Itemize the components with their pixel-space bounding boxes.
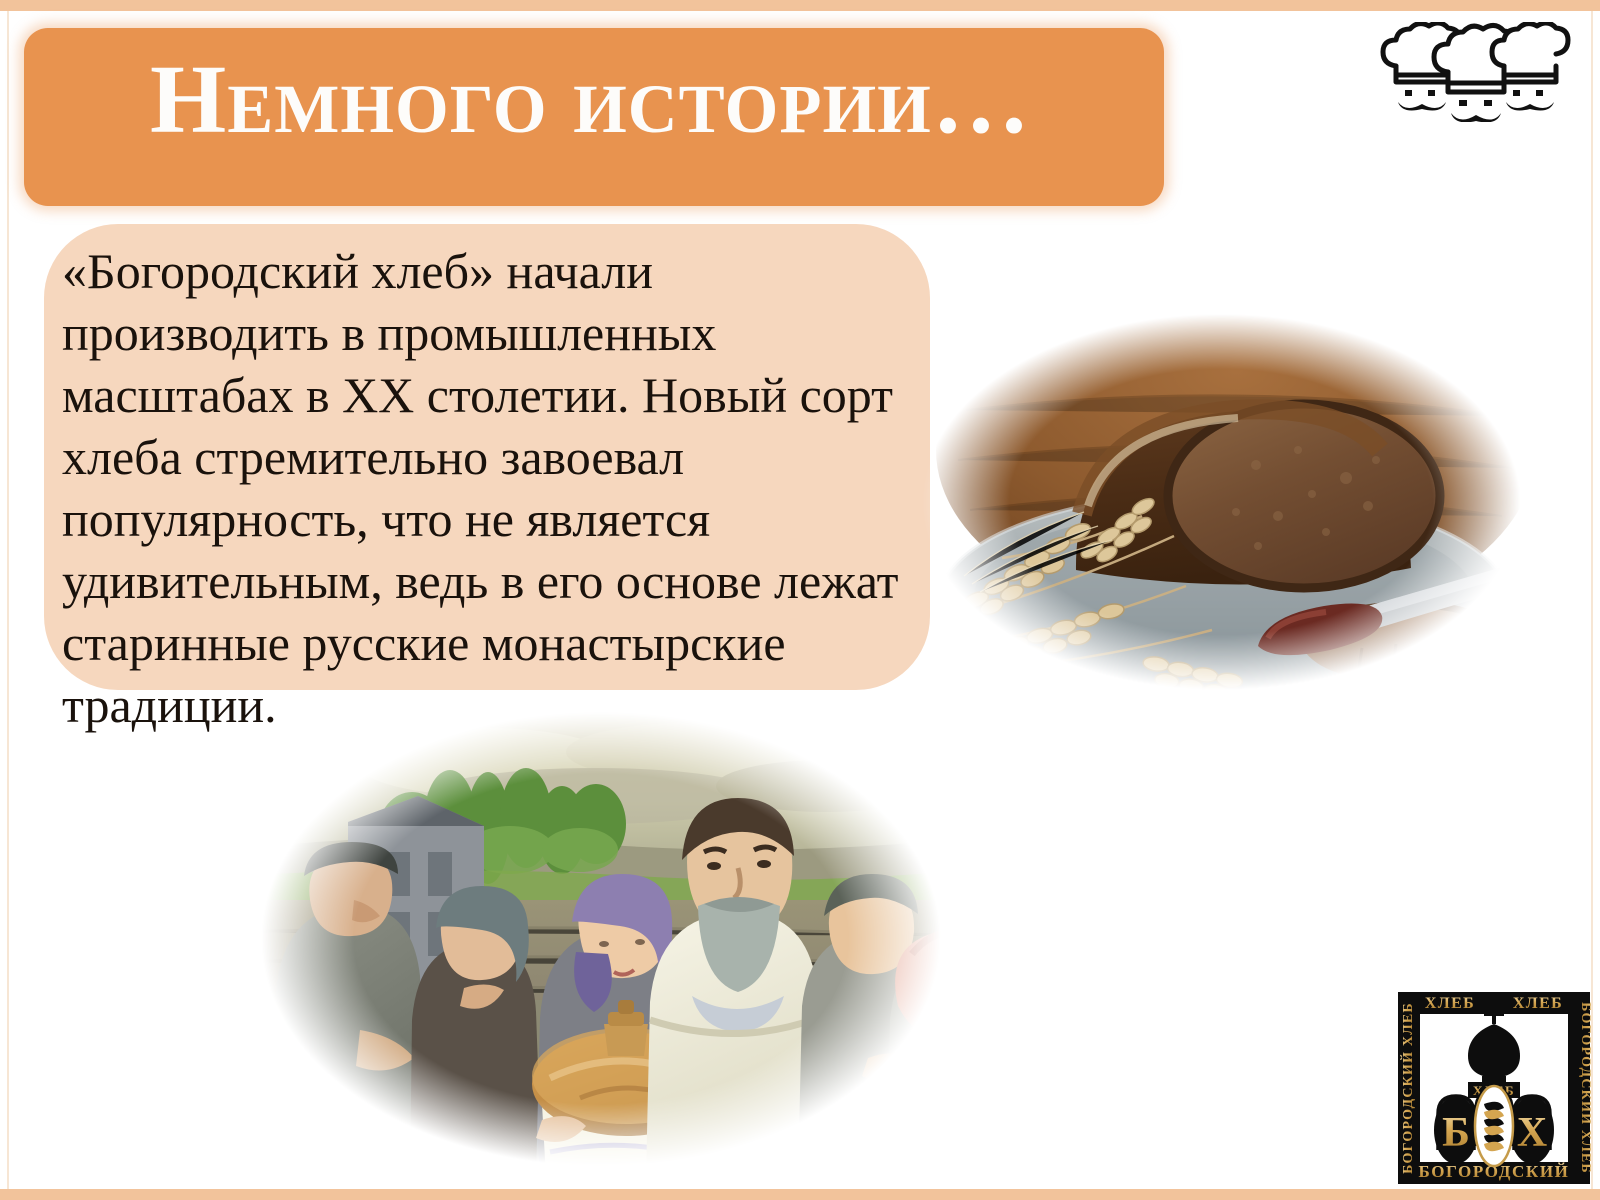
three-chef-hats-icon (1372, 22, 1572, 122)
body-paragraph: «Богородский хлеб» начали производить в … (62, 240, 902, 736)
logo-frame-right-text: БОГОРОДСКИЙ ХЛЕБ (1578, 1002, 1592, 1174)
bogorodsky-hleb-logo: БОГОРОДСКИЙ ХЛЕБ ХЛЕБ БОГОРОДСКИЙ ХЛЕБ Б… (1396, 990, 1592, 1186)
logo-monogram-h: Х (1517, 1110, 1547, 1156)
logo-frame-top-left-text: ХЛЕБ (1425, 995, 1475, 1012)
slide-left-border (7, 11, 9, 1189)
villagers-bread-and-salt-painting (236, 700, 966, 1178)
page-title: Немного истории… (150, 48, 1130, 152)
logo-monogram-b: Б (1442, 1110, 1470, 1156)
logo-frame-left-text: БОГОРОДСКИЙ ХЛЕБ (1399, 1002, 1416, 1174)
presentation-slide: Немного истории… (0, 0, 1600, 1200)
bread-loaf-photo (906, 300, 1536, 704)
slide-bottom-border (0, 1189, 1600, 1200)
slide-top-border (0, 0, 1600, 11)
logo-frame-top-right-text: ХЛЕБ (1513, 995, 1563, 1012)
